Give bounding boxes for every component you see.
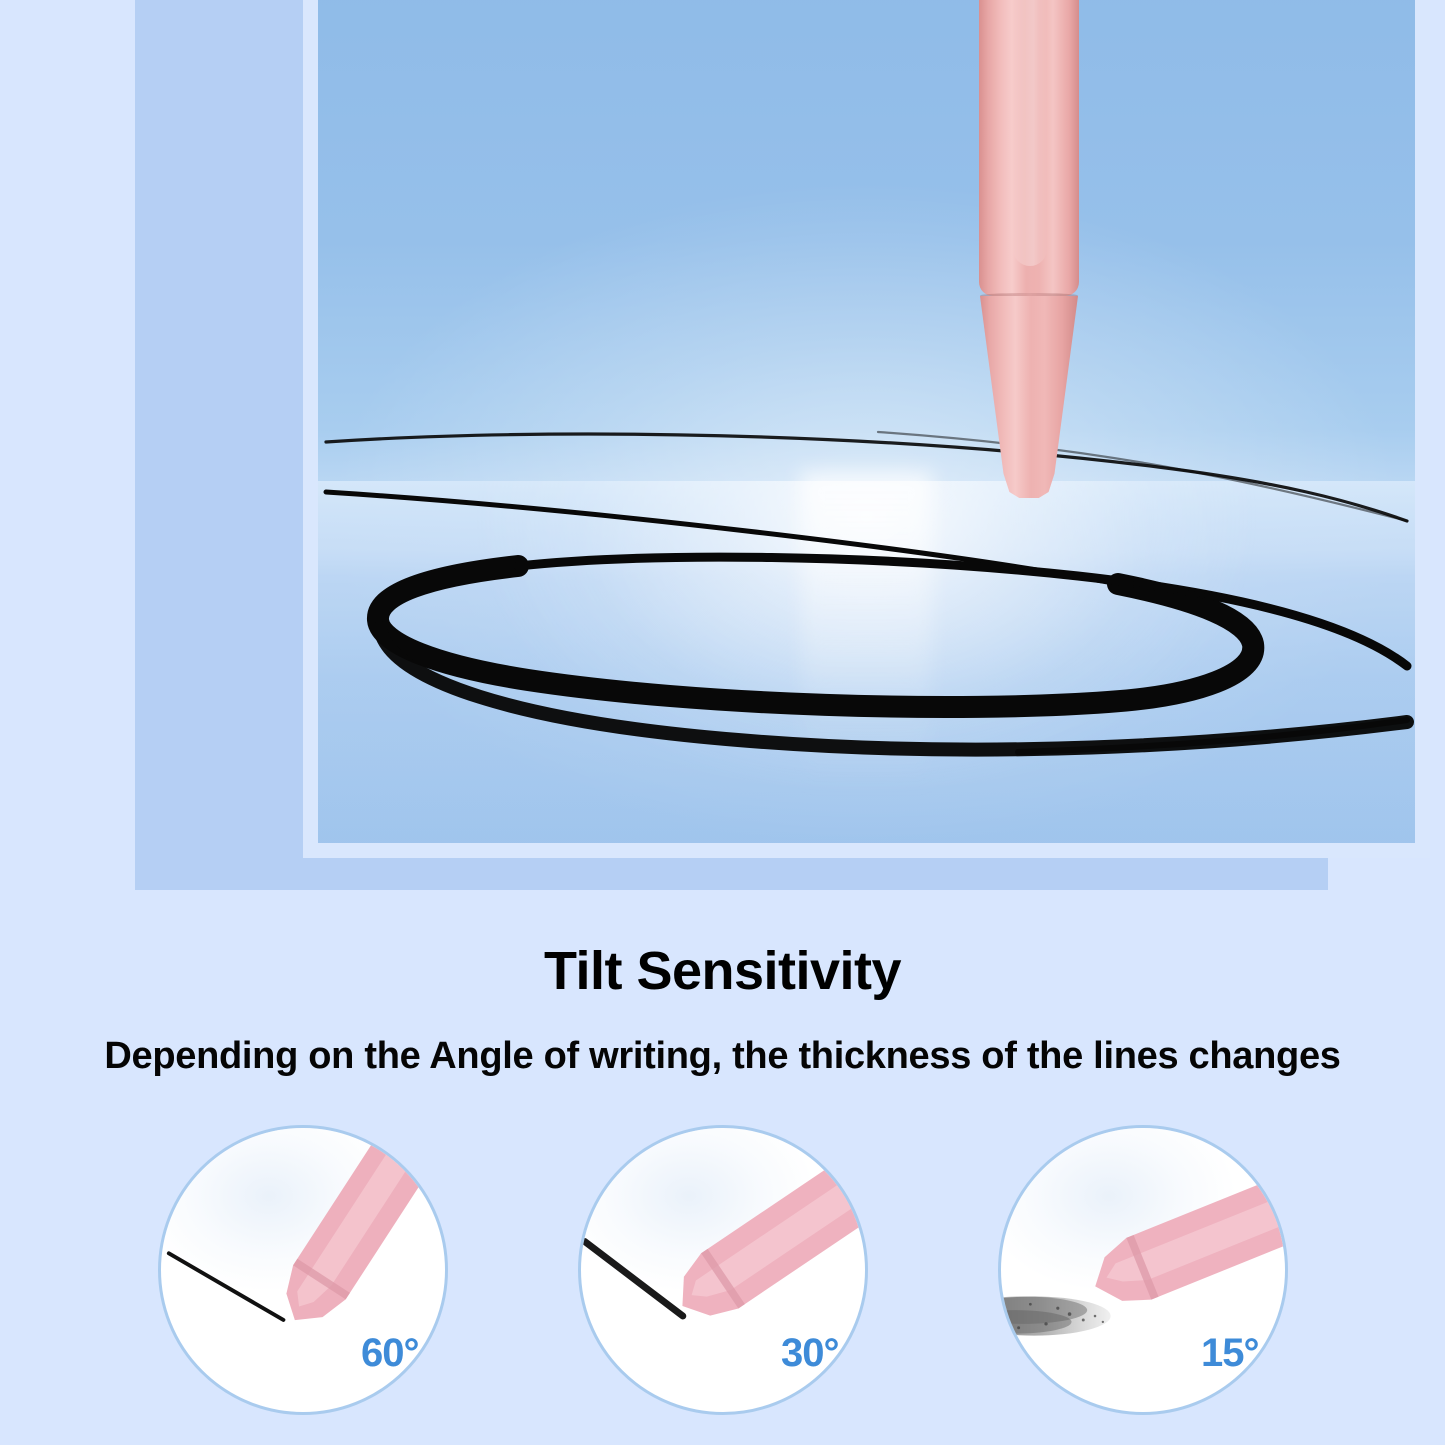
angle-demo-60: 60° <box>158 1125 448 1415</box>
stylus-highlight-groove <box>1013 0 1047 266</box>
hero-photo <box>318 0 1415 843</box>
angle-label-60: 60° <box>361 1331 419 1376</box>
angle-demo-row: 60° 30° <box>0 1125 1445 1425</box>
page-title: Tilt Sensitivity <box>0 940 1445 1002</box>
angle-label-15: 15° <box>1201 1331 1259 1376</box>
hero-photo-frame <box>135 0 1328 890</box>
angle-circle-60: 60° <box>158 1125 448 1415</box>
stylus-tip-cone <box>980 296 1078 498</box>
angle-circle-30: 30° <box>578 1125 868 1415</box>
pink-stylus <box>973 0 1085 506</box>
angle-circle-15: 15° <box>998 1125 1288 1415</box>
angle-label-30: 30° <box>781 1331 839 1376</box>
stylus-barrel <box>979 0 1079 296</box>
tapered-s-curve <box>318 0 1415 843</box>
page-subtitle: Depending on the Angle of writing, the t… <box>0 1035 1445 1078</box>
angle-demo-30: 30° <box>578 1125 868 1415</box>
angle-demo-15: 15° <box>998 1125 1288 1415</box>
